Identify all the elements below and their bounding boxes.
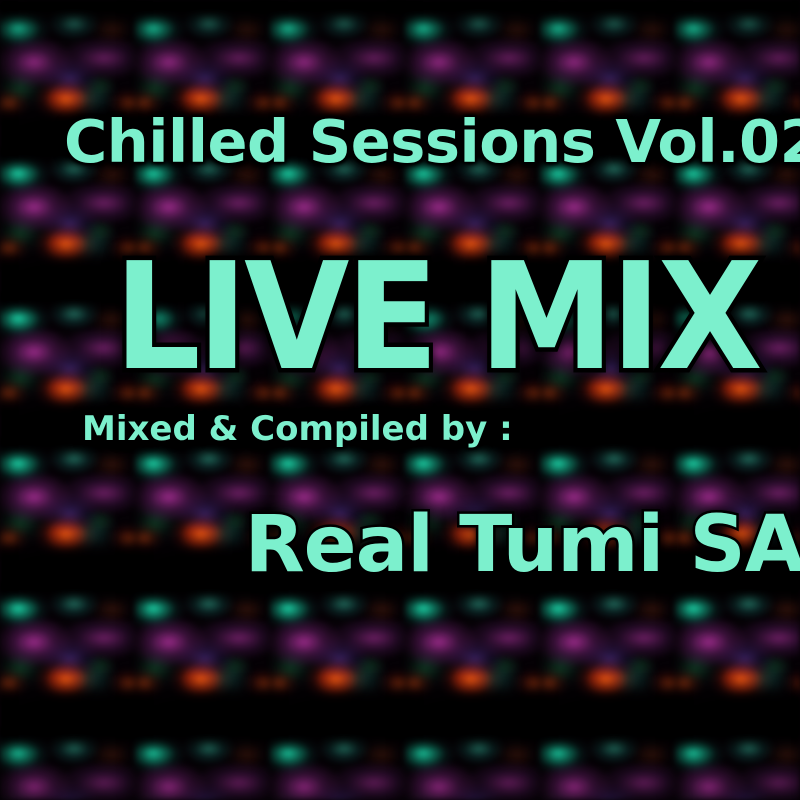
album-cover: Chilled Sessions Vol.02 LIVE MIX Mixed &… <box>0 0 800 800</box>
credit-label: Mixed & Compiled by : <box>82 412 513 446</box>
artist-name: Real Tumi SA <box>245 506 800 584</box>
album-title: Chilled Sessions Vol.02 <box>64 112 800 171</box>
album-headline: LIVE MIX <box>114 243 759 391</box>
